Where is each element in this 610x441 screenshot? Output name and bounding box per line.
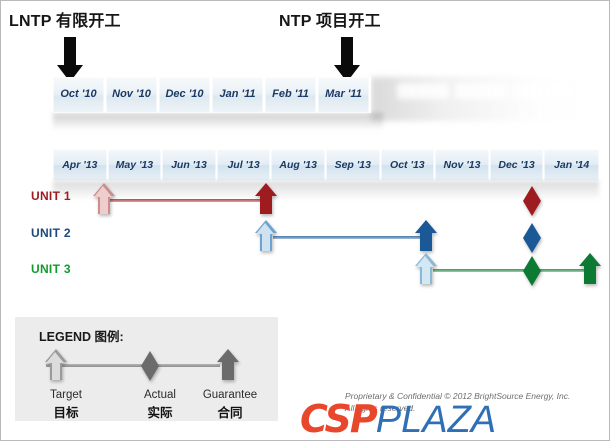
month-label: Jan '14 xyxy=(554,159,589,171)
month-cell: Jan '11 xyxy=(212,77,265,113)
month-label: Sep '13 xyxy=(335,159,371,171)
month-cell: Jun '13 xyxy=(162,149,217,181)
legend-label-en: Target xyxy=(50,389,82,401)
month-cell: Sep '13 xyxy=(326,149,381,181)
month-label: Dec '10 xyxy=(165,88,203,100)
legend-label-en: Actual xyxy=(144,389,176,401)
month-label: Apr '13 xyxy=(62,159,97,171)
month-cell: Jan '14 xyxy=(544,149,599,181)
month-cell: Nov '10 xyxy=(106,77,159,113)
month-cell: Jul '13 xyxy=(217,149,272,181)
timeline-shadow-strip xyxy=(53,113,383,129)
month-label: Feb '11 xyxy=(272,88,309,100)
month-cell: Dec '13 xyxy=(490,149,545,181)
month-cell: Oct '10 xyxy=(53,77,106,113)
month-cell: May '13 xyxy=(108,149,163,181)
marker-guarantee xyxy=(415,220,437,251)
month-cell: Nov '13 xyxy=(435,149,490,181)
watermark-csp: CSP xyxy=(300,397,376,441)
month-label: Dec '13 xyxy=(498,159,534,171)
month-cell: Mar '11 xyxy=(318,77,371,113)
timeline-header-2013: Apr '13May '13Jun '13Jul '13Aug '13Sep '… xyxy=(53,149,599,181)
marker-guarantee xyxy=(255,183,277,214)
marker-target xyxy=(93,183,115,214)
timeline-header-2010: Oct '10Nov '10Dec '10Jan '11Feb '11Mar '… xyxy=(53,77,371,113)
unit-label-unit-1: UNIT 1 xyxy=(31,189,71,203)
milestone-arrow-lntp xyxy=(57,37,83,82)
month-cell: Dec '10 xyxy=(159,77,212,113)
legend-label-en: Guarantee xyxy=(203,389,257,401)
month-cell: Oct '13 xyxy=(381,149,436,181)
unit-label-unit-3: UNIT 3 xyxy=(31,262,71,276)
month-label: Nov '10 xyxy=(112,88,151,100)
marker-guarantee xyxy=(579,253,601,284)
legend-label-cn: 目标 xyxy=(23,402,109,421)
month-label: Oct '13 xyxy=(390,159,425,171)
arrow-stem xyxy=(341,37,353,67)
faded-timeline-continuation xyxy=(371,77,586,121)
legend-marker-guarantee xyxy=(217,349,239,380)
legend-label-cn: 合同 xyxy=(187,402,273,421)
watermark: CSP PLAZA xyxy=(300,397,496,441)
month-label: Jul '13 xyxy=(227,159,259,171)
legend-title: LEGEND 图例: xyxy=(39,326,124,345)
legend-connector-line xyxy=(46,364,220,367)
arrow-stem xyxy=(64,37,76,67)
month-label: Jun '13 xyxy=(171,159,207,171)
month-cell: Feb '11 xyxy=(265,77,318,113)
slide-canvas: LNTP 有限开工 NTP 项目开工 Oct '10Nov '10Dec '10… xyxy=(0,0,610,441)
month-cell: Apr '13 xyxy=(53,149,108,181)
month-label: Jan '11 xyxy=(219,88,255,100)
month-label: Mar '11 xyxy=(325,88,362,100)
milestone-label-lntp: LNTP 有限开工 xyxy=(9,7,121,31)
grid-shadow-strip xyxy=(53,181,599,199)
unit-track xyxy=(273,236,425,239)
milestone-label-ntp: NTP 项目开工 xyxy=(279,7,381,31)
month-label: May '13 xyxy=(116,159,154,171)
legend-item-target: Target目标 xyxy=(23,389,109,421)
marker-target xyxy=(255,220,277,251)
marker-target xyxy=(415,253,437,284)
unit-track xyxy=(104,199,266,202)
month-label: Oct '10 xyxy=(60,88,96,100)
month-label: Aug '13 xyxy=(279,159,317,171)
legend-item-guarantee: Guarantee合同 xyxy=(187,389,273,421)
unit-label-unit-2: UNIT 2 xyxy=(31,226,71,240)
month-cell: Aug '13 xyxy=(271,149,326,181)
legend-marker-target xyxy=(45,349,67,380)
unit-track xyxy=(433,269,585,272)
month-label: Nov '13 xyxy=(443,159,480,171)
milestone-arrow-ntp xyxy=(334,37,360,82)
watermark-plaza: PLAZA xyxy=(376,399,496,441)
